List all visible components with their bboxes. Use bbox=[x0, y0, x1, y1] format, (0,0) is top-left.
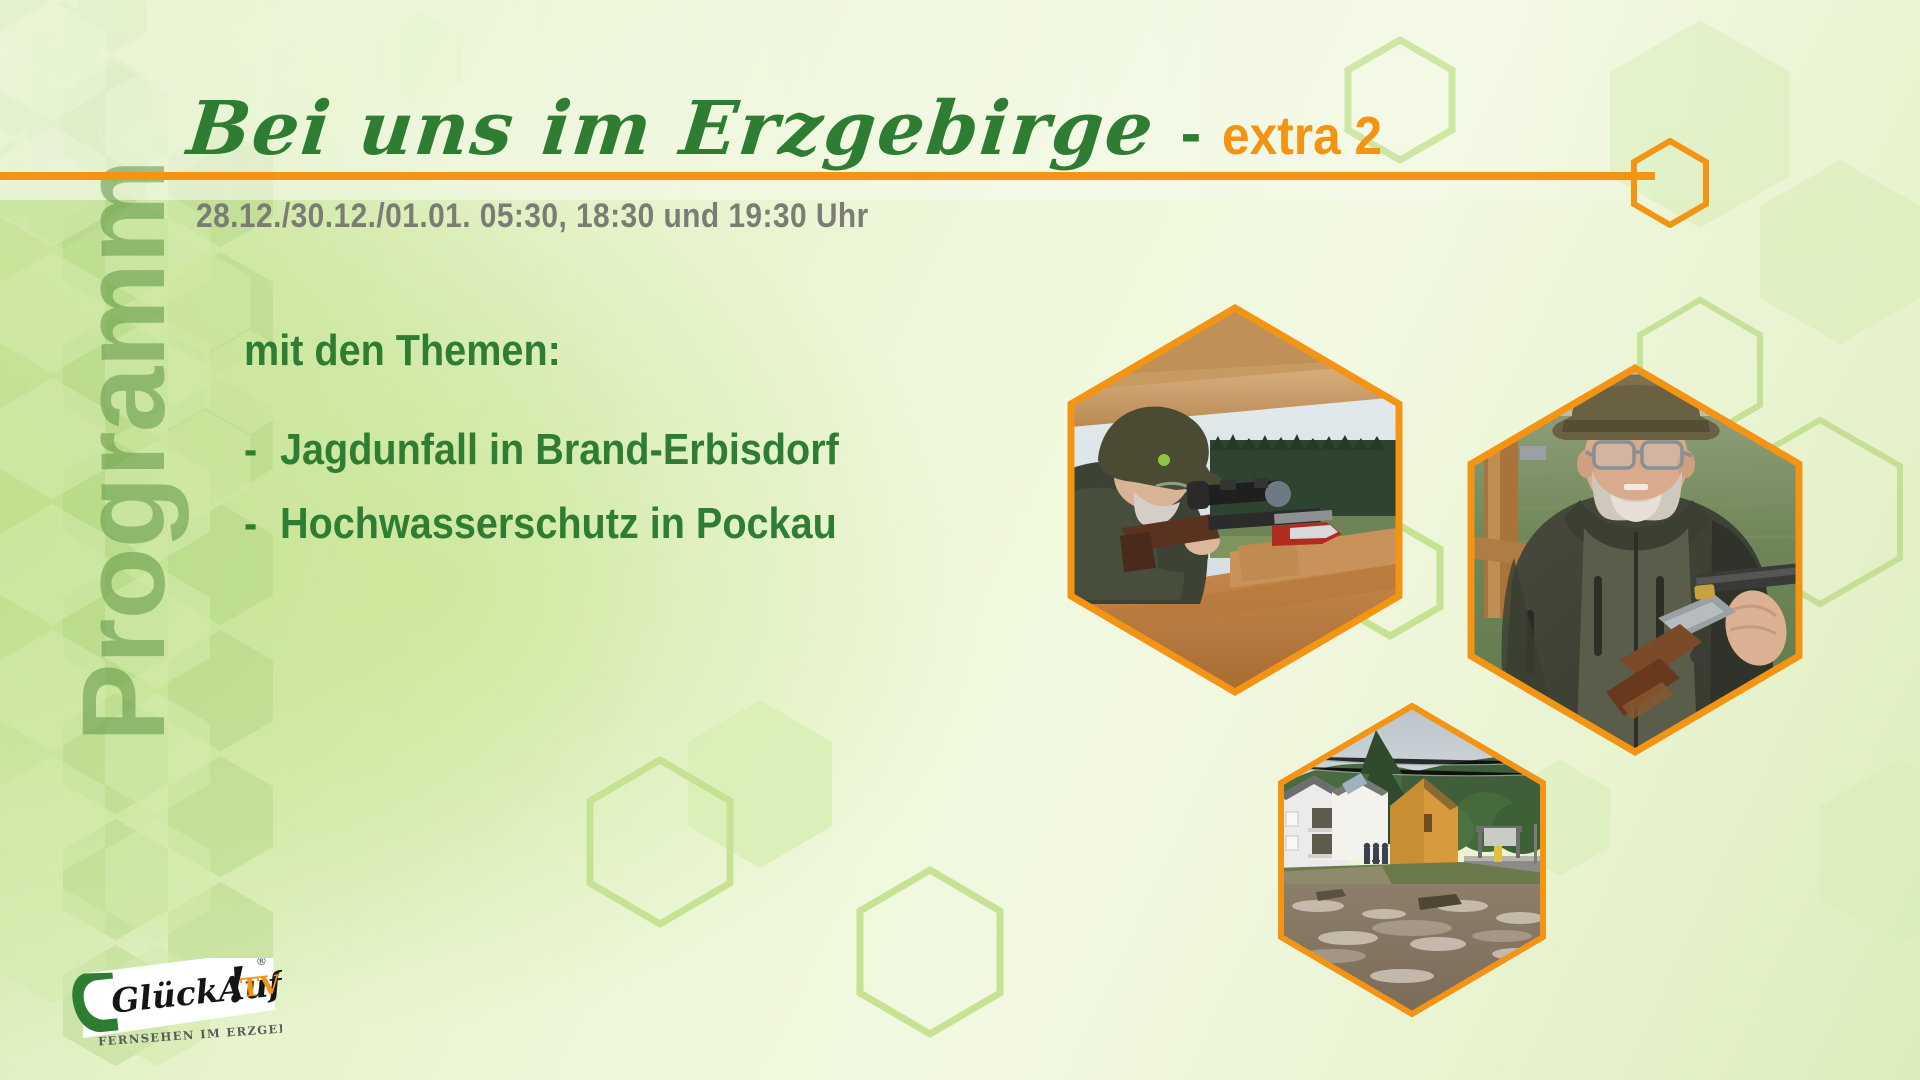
list-item: - Jagdunfall in Brand-Erbisdorf bbox=[244, 425, 839, 475]
page-title-separator: - bbox=[1181, 98, 1202, 169]
flood-river-village-photo bbox=[1272, 700, 1552, 1020]
list-item: - Hochwasserschutz in Pockau bbox=[244, 499, 839, 549]
list-item-label: Jagdunfall in Brand-Erbisdorf bbox=[280, 425, 839, 475]
glueckauf-tv-logo: GlückAuf ! TV ® FERNSEHEN IM ERZGEBIRGE bbox=[72, 958, 282, 1050]
broadcast-times: 28.12./30.12./01.01. 05:30, 18:30 und 19… bbox=[196, 197, 869, 236]
logo-tv-text: TV bbox=[239, 970, 282, 1004]
page-title: Bei uns im Erzgebirge - extra 2 bbox=[188, 86, 1389, 172]
topics-intro-label: mit den Themen: bbox=[244, 326, 561, 376]
bullet-marker: - bbox=[244, 499, 280, 549]
logo-registered-mark: ® bbox=[255, 958, 267, 968]
hunter-aiming-rifle-photo bbox=[1060, 300, 1410, 700]
bullet-marker: - bbox=[244, 425, 280, 475]
page-title-main: Bei uns im Erzgebirge bbox=[183, 86, 1159, 172]
topics-list: - Jagdunfall in Brand-Erbisdorf - Hochwa… bbox=[244, 425, 839, 573]
list-item-label: Hochwasserschutz in Pockau bbox=[280, 499, 837, 549]
orange-hexagon-accent-icon bbox=[1630, 138, 1710, 233]
page-title-extra: extra 2 bbox=[1222, 105, 1382, 167]
slide-canvas: Programm Bei uns im Erzgebirge - extra 2… bbox=[0, 0, 1920, 1080]
vertical-programm-label: Programm bbox=[65, 131, 183, 771]
orange-divider-rule bbox=[0, 172, 1655, 180]
